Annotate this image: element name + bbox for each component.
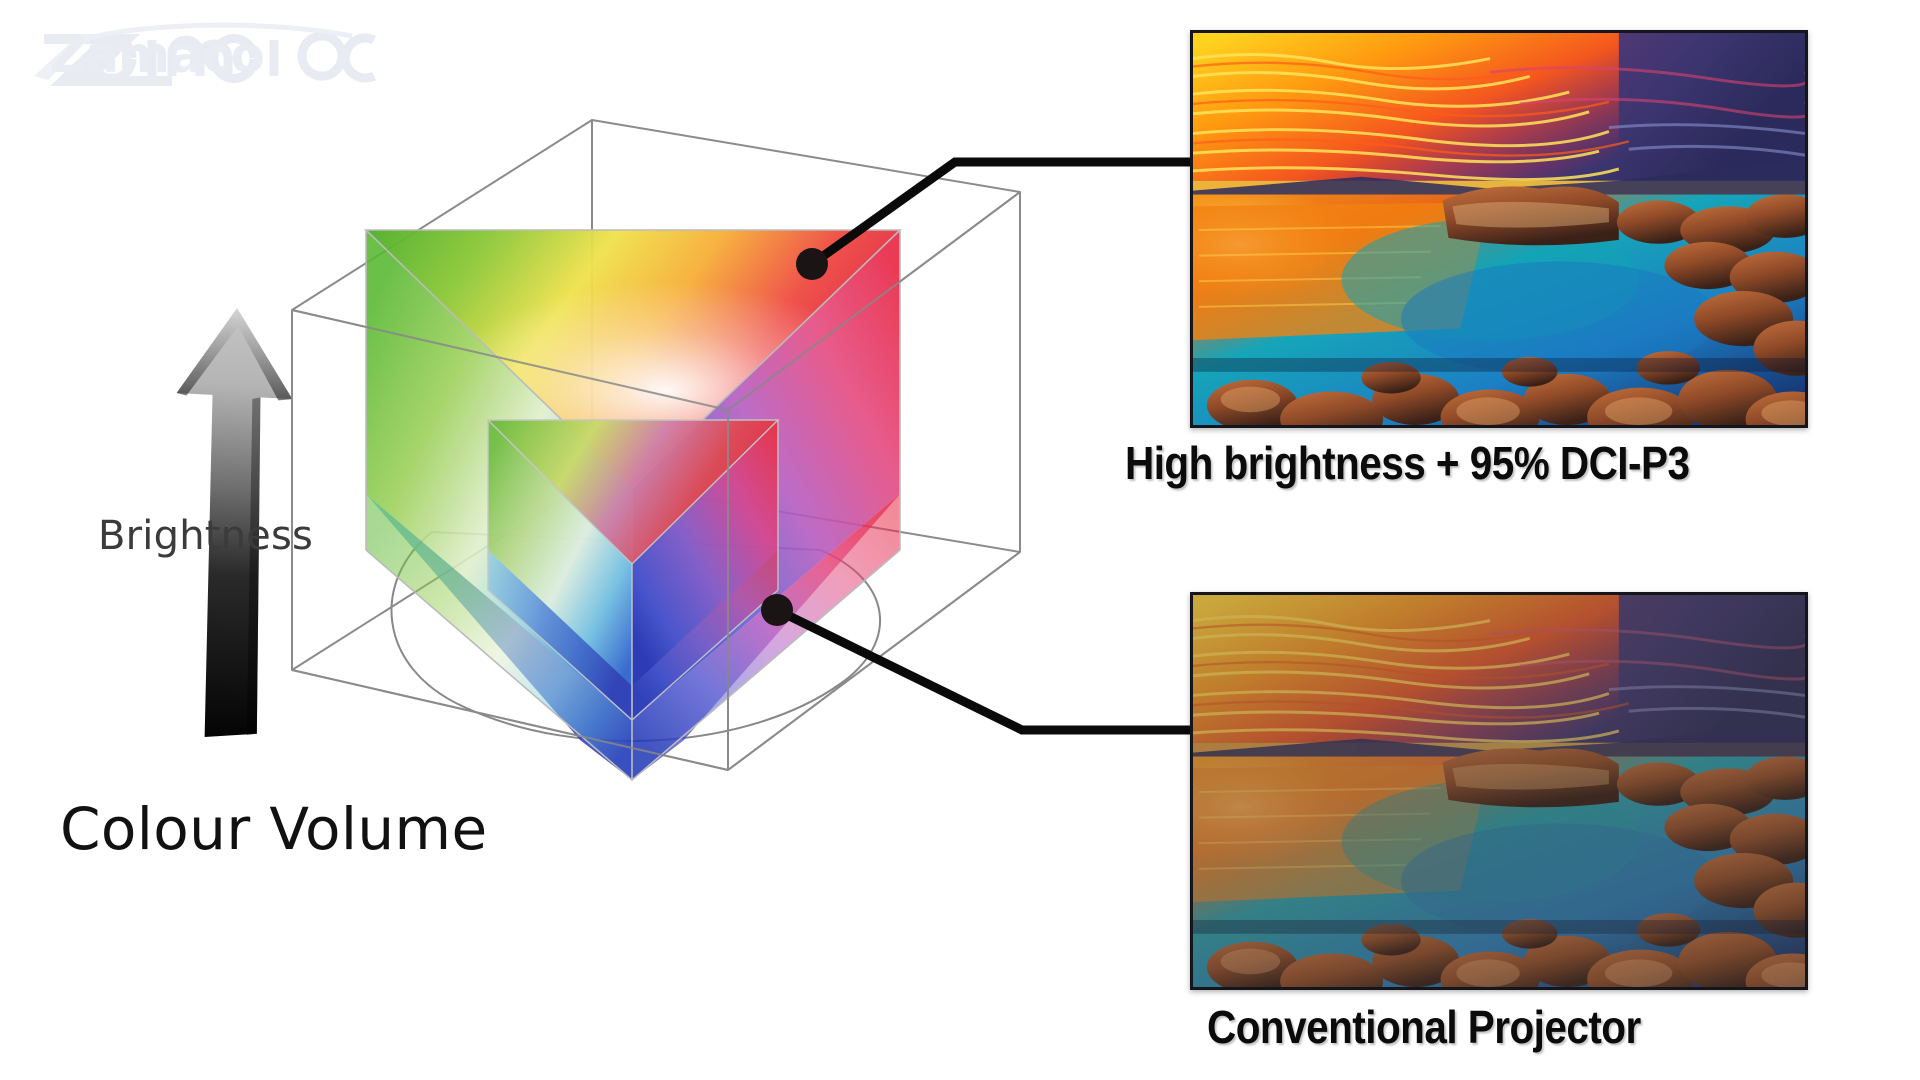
caption-conventional: Conventional Projector [1207, 1000, 1641, 1054]
slide-canvas: Zamaco Brightness Colour Volume [0, 0, 1920, 1080]
photo-high-brightness[interactable] [1190, 30, 1808, 428]
caption-high-brightness: High brightness + 95% DCI-P3 [1125, 436, 1689, 490]
photo-conventional[interactable] [1190, 592, 1808, 990]
colour-volume-3d-diagram [280, 80, 1040, 1010]
zamaco-watermark: Zamaco [22, 14, 402, 86]
svg-text:Zamaco: Zamaco [50, 26, 264, 84]
